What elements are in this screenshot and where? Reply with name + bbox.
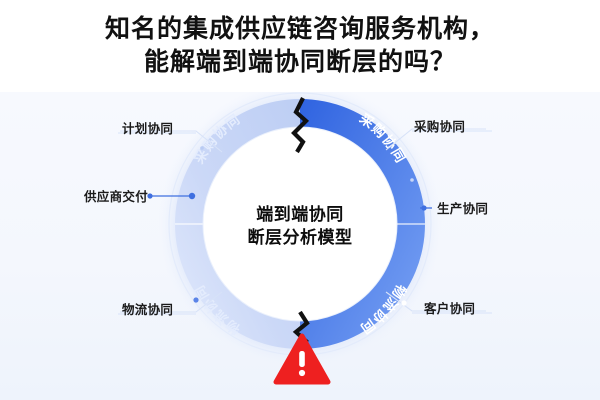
callout-label-purchase: 采购协同 [414,116,465,135]
screenshot-root: 知名的集成供应链咨询服务机构， 能解端到端协同断层的吗？ [0,0,600,400]
page-title-line-1: 知名的集成供应链咨询服务机构， [105,15,495,45]
callout-label-customer: 客户协同 [424,298,475,317]
page-title-line-2: 能解端到端协同断层的吗？ [144,48,456,78]
callout-label-plan: 计划协同 [122,118,173,137]
center-label-line-1: 端到端协同 [220,204,380,227]
diagram-center-label: 端到端协同 断层分析模型 [220,204,380,250]
callout-label-produce: 生产协同 [437,198,488,217]
page-header: 知名的集成供应链咨询服务机构， 能解端到端协同断层的吗？ [0,0,600,92]
callout-label-logistics: 物流协同 [122,299,173,318]
center-label-line-2: 断层分析模型 [220,227,380,250]
callout-label-supplier: 供应商交付 [84,186,148,205]
